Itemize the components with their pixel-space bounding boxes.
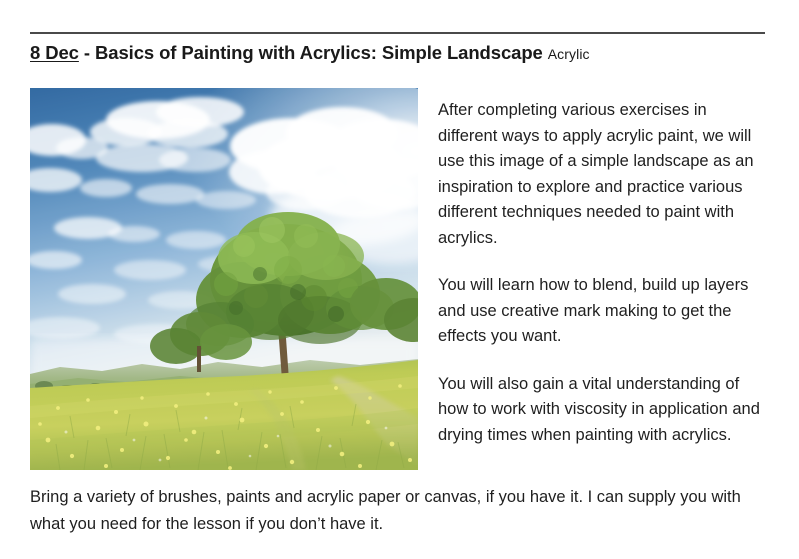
- landscape-photo: [30, 88, 418, 470]
- header-divider: [30, 32, 765, 34]
- lesson-description-copy: After completing various exercises in di…: [438, 98, 768, 448]
- paragraph-2: You will learn how to blend, build up la…: [438, 273, 768, 350]
- materials-note-text: Bring a variety of brushes, paints and a…: [30, 484, 775, 538]
- materials-note: Bring a variety of brushes, paints and a…: [30, 484, 775, 538]
- title-separator: -: [79, 42, 95, 63]
- paragraph-1: After completing various exercises in di…: [438, 98, 768, 251]
- title-date: 8 Dec: [30, 42, 79, 63]
- page-title: 8 Dec - Basics of Painting with Acrylics…: [30, 42, 770, 64]
- paragraph-3: You will also gain a vital understanding…: [438, 372, 768, 449]
- title-main-text: Basics of Painting with Acrylics: Simple…: [95, 42, 543, 63]
- landscape-photo-artwork: [30, 88, 418, 470]
- lesson-description-page: 8 Dec - Basics of Painting with Acrylics…: [0, 0, 799, 559]
- title-medium-label: Acrylic: [548, 46, 590, 62]
